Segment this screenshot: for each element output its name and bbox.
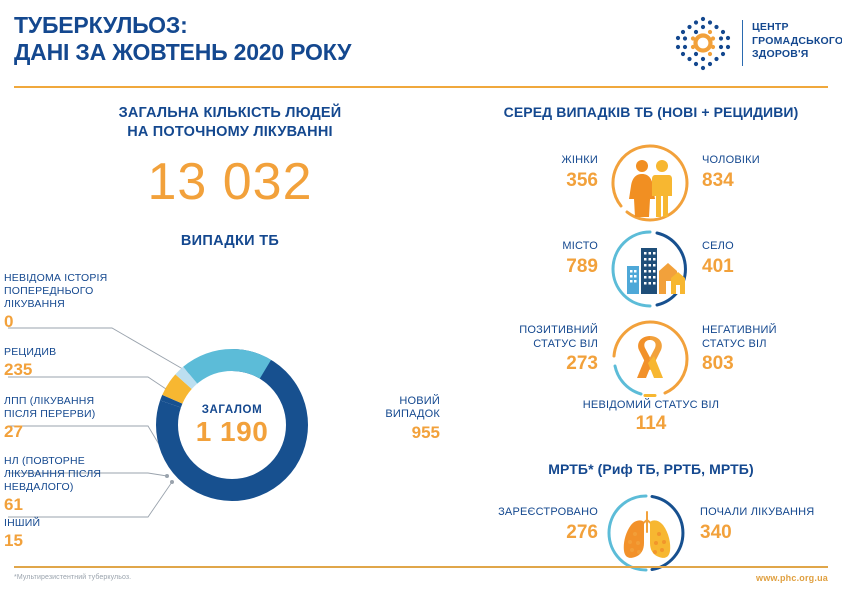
hiv-positive-stat: ПОЗИТИВНИЙ СТАТУС ВІЛ 273 [480, 324, 598, 375]
callout-lpp-line2: ПІСЛЯ ПЕРЕРВИ) [4, 408, 154, 421]
total-heading-line1: ЗАГАЛЬНА КІЛЬКІСТЬ ЛЮДЕЙ [40, 104, 420, 123]
gender-female-stat: ЖІНКИ 356 [480, 154, 598, 192]
gender-female-value: 356 [480, 169, 598, 192]
hiv-negative-stat: НЕГАТИВНИЙ СТАТУС ВІЛ 803 [702, 324, 840, 375]
hiv-negative-value: 803 [702, 352, 840, 375]
gender-male-value: 834 [702, 169, 840, 192]
callout-nl-line2: ЛІКУВАННЯ ПІСЛЯ [4, 468, 154, 481]
stat-row-hiv: ПОЗИТИВНИЙ СТАТУС ВІЛ 273 [0, 316, 842, 402]
footer-divider [14, 566, 828, 568]
callout-new-case-line2: ВИПАДОК [330, 408, 440, 421]
page-title: ТУБЕРКУЛЬОЗ: ДАНІ ЗА ЖОВТЕНЬ 2020 РОКУ [14, 12, 351, 66]
mdr-registered-label: ЗАРЕЄСТРОВАНО [470, 506, 598, 520]
hiv-positive-label-line1: ПОЗИТИВНИЙ [480, 324, 598, 338]
logo-text-line1: ЦЕНТР [752, 21, 842, 35]
stat-row-mdr: ЗАРЕЄСТРОВАНО 276 [0, 490, 842, 576]
logo-text: ЦЕНТР ГРОМАДСЬКОГО ЗДОРОВ'Я [752, 21, 842, 62]
mdr-started-treatment-label: ПОЧАЛИ ЛІКУВАННЯ [700, 506, 842, 520]
settlement-city-label: МІСТО [480, 240, 598, 254]
hiv-negative-label-line1: НЕГАТИВНИЙ [702, 324, 840, 338]
footnote-text: *Мультирезистентний туберкульоз. [14, 574, 131, 581]
lungs-icon [602, 490, 692, 576]
hiv-positive-label-line2: СТАТУС ВІЛ [480, 338, 598, 352]
gender-female-label: ЖІНКИ [480, 154, 598, 168]
logo-divider [742, 20, 743, 66]
logo-text-line3: ЗДОРОВ'Я [752, 48, 842, 62]
hiv-negative-label-line2: СТАТУС ВІЛ [702, 338, 840, 352]
settlement-village-value: 401 [702, 255, 840, 278]
mdr-heading: МРТБ* (Риф ТБ, РРТБ, МРТБ) [460, 461, 842, 477]
infographic-page: ТУБЕРКУЛЬОЗ: ДАНІ ЗА ЖОВТЕНЬ 2020 РОКУ [0, 0, 842, 596]
male-female-icon [605, 140, 695, 226]
callout-lpp: ЛПП (ЛІКУВАННЯ ПІСЛЯ ПЕРЕРВИ) 27 [4, 395, 154, 442]
mdr-started-treatment-value: 340 [700, 521, 842, 544]
awareness-ribbon-icon [605, 316, 695, 402]
right-panel-heading: СЕРЕД ВИПАДКІВ ТБ (НОВІ + РЕЦИДИВИ) [460, 104, 842, 120]
hiv-unknown-value: 114 [460, 412, 842, 435]
callout-lpp-value: 27 [4, 422, 154, 442]
mdr-started-treatment-stat: ПОЧАЛИ ЛІКУВАННЯ 340 [700, 506, 842, 544]
callout-nl-line1: НЛ (ПОВТОРНЕ [4, 455, 154, 468]
settlement-city-value: 789 [480, 255, 598, 278]
website-link[interactable]: www.phc.org.ua [756, 573, 828, 583]
phc-logo: ЦЕНТР ГРОМАДСЬКОГО ЗДОРОВ'Я [672, 14, 832, 72]
stat-row-settlement: МІСТО 789 [0, 226, 842, 312]
total-heading: ЗАГАЛЬНА КІЛЬКІСТЬ ЛЮДЕЙ НА ПОТОЧНОМУ ЛІ… [40, 104, 420, 142]
hiv-unknown-label: НЕВІДОМИЙ СТАТУС ВІЛ [460, 399, 842, 411]
mdr-registered-stat: ЗАРЕЄСТРОВАНО 276 [470, 506, 598, 544]
callout-new-case-value: 955 [330, 423, 440, 443]
stat-row-gender: ЖІНКИ 356 ЧОЛОВІ [0, 140, 842, 226]
settlement-city-stat: МІСТО 789 [480, 240, 598, 278]
logo-text-line2: ГРОМАДСЬКОГО [752, 35, 842, 49]
header: ТУБЕРКУЛЬОЗ: ДАНІ ЗА ЖОВТЕНЬ 2020 РОКУ [0, 0, 842, 82]
page-title-line2: ДАНІ ЗА ЖОВТЕНЬ 2020 РОКУ [14, 39, 351, 66]
city-village-icon [605, 226, 695, 312]
page-title-line1: ТУБЕРКУЛЬОЗ: [14, 12, 188, 38]
callout-new-case: НОВИЙ ВИПАДОК 955 [330, 395, 440, 443]
hiv-positive-value: 273 [480, 352, 598, 375]
settlement-village-stat: СЕЛО 401 [702, 240, 840, 278]
hiv-unknown-stat: НЕВІДОМИЙ СТАТУС ВІЛ 114 [460, 399, 842, 435]
settlement-village-label: СЕЛО [702, 240, 840, 254]
gender-male-label: ЧОЛОВІКИ [702, 154, 840, 168]
phc-logo-mark-icon [672, 14, 734, 72]
gender-male-stat: ЧОЛОВІКИ 834 [702, 154, 840, 192]
mdr-registered-value: 276 [470, 521, 598, 544]
header-divider [14, 86, 828, 88]
